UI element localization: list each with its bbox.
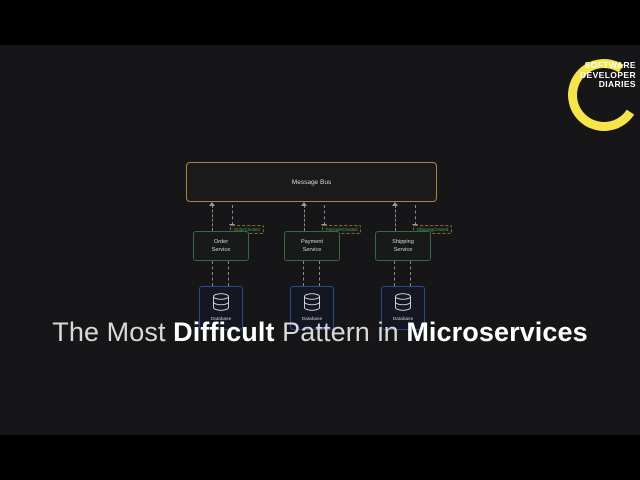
connector-shipping-db-a: [394, 261, 395, 286]
database-cylinder-icon: [301, 292, 323, 314]
connector-order-db-a: [212, 261, 213, 286]
arrow-up-order: [209, 202, 215, 206]
service-payment-line2: Service: [303, 246, 322, 254]
connector-bus-payment-up: [304, 205, 305, 231]
connector-bus-order-down: [232, 205, 233, 225]
connector-bus-payment-down: [324, 205, 325, 225]
architecture-diagram: Message Bus OrderCreated PaymentC: [0, 45, 640, 345]
slide-stage: SOFTWARE DEVELOPER DIARIES Message Bus: [0, 45, 640, 435]
connector-bus-shipping-down: [415, 205, 416, 225]
service-node-payment: Payment Service: [284, 231, 340, 261]
slide-title: The Most Difficult Pattern in Microservi…: [0, 317, 640, 348]
connector-payment-db-b: [319, 261, 320, 286]
title-emphasis-1: Difficult: [173, 317, 274, 347]
message-bus-node: Message Bus: [186, 162, 437, 202]
title-part-1: The Most: [52, 317, 173, 347]
connector-payment-db-a: [303, 261, 304, 286]
database-cylinder-icon: [392, 292, 414, 314]
connector-shipping-db-b: [410, 261, 411, 286]
service-order-line1: Order: [214, 238, 228, 246]
letterbox-top: [0, 0, 640, 45]
connector-bus-order-up: [212, 205, 213, 231]
arrow-up-payment: [301, 202, 307, 206]
service-order-line2: Service: [212, 246, 231, 254]
letterbox-bottom: [0, 435, 640, 480]
database-cylinder-icon: [210, 292, 232, 314]
service-node-order: Order Service: [193, 231, 249, 261]
connector-bus-shipping-up: [395, 205, 396, 231]
arrow-up-shipping: [392, 202, 398, 206]
connector-order-db-b: [228, 261, 229, 286]
service-payment-line1: Payment: [301, 238, 323, 246]
service-shipping-line1: Shipping: [392, 238, 414, 246]
video-frame: SOFTWARE DEVELOPER DIARIES Message Bus: [0, 0, 640, 480]
service-shipping-line2: Service: [394, 246, 413, 254]
service-node-shipping: Shipping Service: [375, 231, 431, 261]
message-bus-label: Message Bus: [292, 179, 331, 186]
title-part-2: Pattern in: [275, 317, 407, 347]
title-emphasis-2: Microservices: [406, 317, 587, 347]
